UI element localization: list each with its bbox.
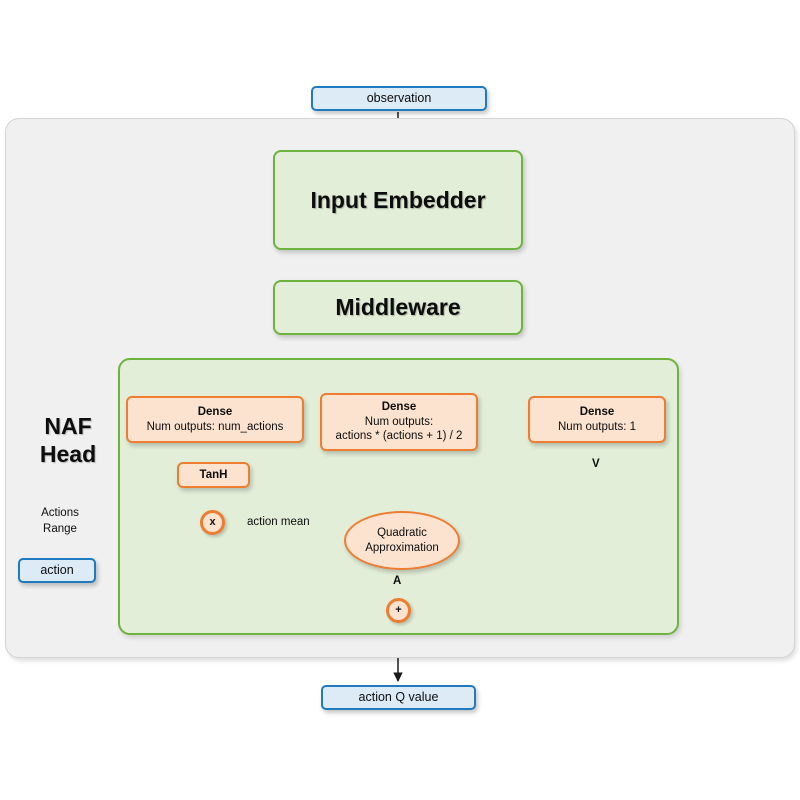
observation-input-box[interactable]: observation <box>311 86 487 111</box>
quadratic-approximation-node[interactable]: Quadratic Approximation <box>344 511 460 570</box>
dense-value-detail: Num outputs: 1 <box>558 420 636 434</box>
action-q-value-label: action Q value <box>359 690 439 706</box>
tanh-activation-box[interactable]: TanH <box>177 462 250 488</box>
quadratic-approximation-line1: Quadratic <box>377 526 427 540</box>
middleware-label: Middleware <box>335 293 460 322</box>
naf-head-label-line1: NAF <box>44 413 91 441</box>
action-input-box[interactable]: action <box>18 558 96 583</box>
dense-action-mean-detail: Num outputs: num_actions <box>147 420 284 434</box>
dense-l-matrix-box[interactable]: Dense Num outputs: actions * (actions + … <box>320 393 478 451</box>
naf-head-label-line2: Head <box>40 441 96 469</box>
advantage-edge-label: A <box>393 575 401 587</box>
value-edge-label: V <box>592 458 600 470</box>
action-q-value-output-box[interactable]: action Q value <box>321 685 476 710</box>
dense-l-matrix-title: Dense <box>382 400 417 414</box>
action-label: action <box>40 563 73 579</box>
observation-label: observation <box>367 91 432 107</box>
add-operator-node[interactable]: + <box>386 598 411 623</box>
dense-l-matrix-detail-line2: actions * (actions + 1) / 2 <box>336 429 463 443</box>
dense-value-title: Dense <box>580 405 615 419</box>
add-operator-label: + <box>395 604 401 618</box>
quadratic-approximation-line2: Approximation <box>365 541 439 555</box>
middleware-box[interactable]: Middleware <box>273 280 523 335</box>
dense-action-mean-title: Dense <box>198 405 233 419</box>
multiply-operator-label: x <box>209 516 215 530</box>
tanh-label: TanH <box>200 468 228 482</box>
multiply-operator-node[interactable]: x <box>200 510 225 535</box>
input-embedder-label: Input Embedder <box>310 186 485 215</box>
input-embedder-box[interactable]: Input Embedder <box>273 150 523 250</box>
dense-l-matrix-detail-line1: Num outputs: <box>365 415 433 429</box>
dense-action-mean-box[interactable]: Dense Num outputs: num_actions <box>126 396 304 443</box>
naf-head-label: NAF Head <box>18 408 118 474</box>
action-mean-edge-label: action mean <box>247 516 310 528</box>
dense-value-box[interactable]: Dense Num outputs: 1 <box>528 396 666 443</box>
actions-range-label: Actions Range <box>26 506 94 537</box>
